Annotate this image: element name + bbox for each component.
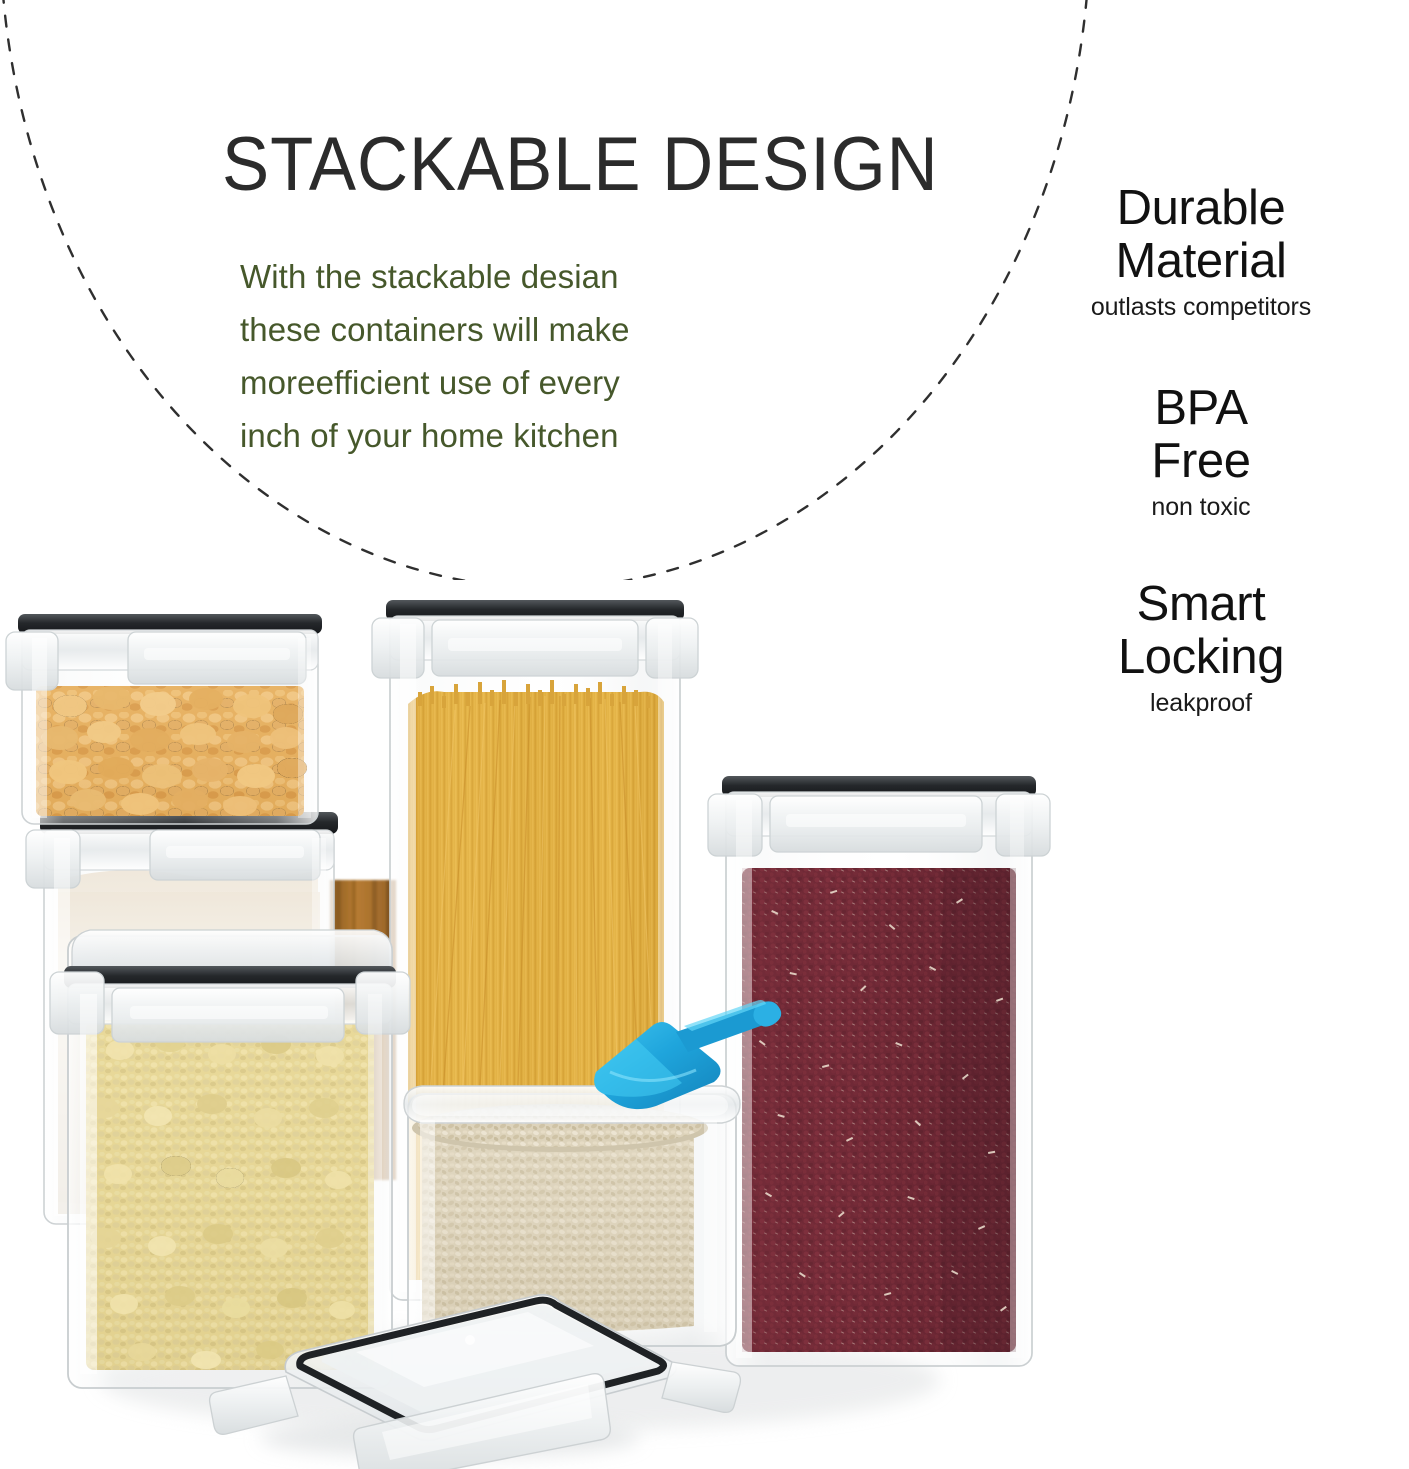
feature-smart-locking: Smart Locking leakproof (1051, 578, 1351, 718)
redbean-container (708, 776, 1050, 1366)
body-copy-line-3: moreefficient use of every (240, 356, 760, 409)
oats-container (404, 1086, 740, 1346)
body-copy-line-1: With the stackable desian (240, 250, 760, 303)
feature-title: Smart Locking (1051, 578, 1351, 684)
feature-subtitle: leakproof (1051, 688, 1351, 718)
feature-title-line-1: BPA (1154, 381, 1247, 435)
feature-title-line-2: Free (1051, 435, 1351, 488)
body-copy-line-4: inch of your home kitchen (240, 409, 760, 462)
feature-bpa-free: BPA Free non toxic (1051, 382, 1351, 522)
feature-list: Durable Material outlasts competitors BP… (1051, 182, 1351, 718)
poster-canvas: STACKABLE DESIGN With the stackable desi… (0, 0, 1409, 1469)
feature-title-line-2: Material (1051, 235, 1351, 288)
product-photo (0, 580, 1060, 1469)
cornflake-container (50, 930, 410, 1388)
feature-title-line-1: Durable (1117, 181, 1286, 235)
feature-title: Durable Material (1051, 182, 1351, 288)
page-title: STACKABLE DESIGN (222, 123, 1003, 207)
feature-title-line-1: Smart (1137, 577, 1266, 631)
cracker-container (6, 614, 322, 824)
feature-durable-material: Durable Material outlasts competitors (1051, 182, 1351, 322)
body-copy: With the stackable desian these containe… (240, 250, 760, 462)
feature-subtitle: non toxic (1051, 492, 1351, 522)
feature-title-line-2: Locking (1051, 631, 1351, 684)
body-copy-line-2: these containers will make (240, 303, 760, 356)
feature-subtitle: outlasts competitors (1051, 292, 1351, 322)
feature-title: BPA Free (1051, 382, 1351, 488)
